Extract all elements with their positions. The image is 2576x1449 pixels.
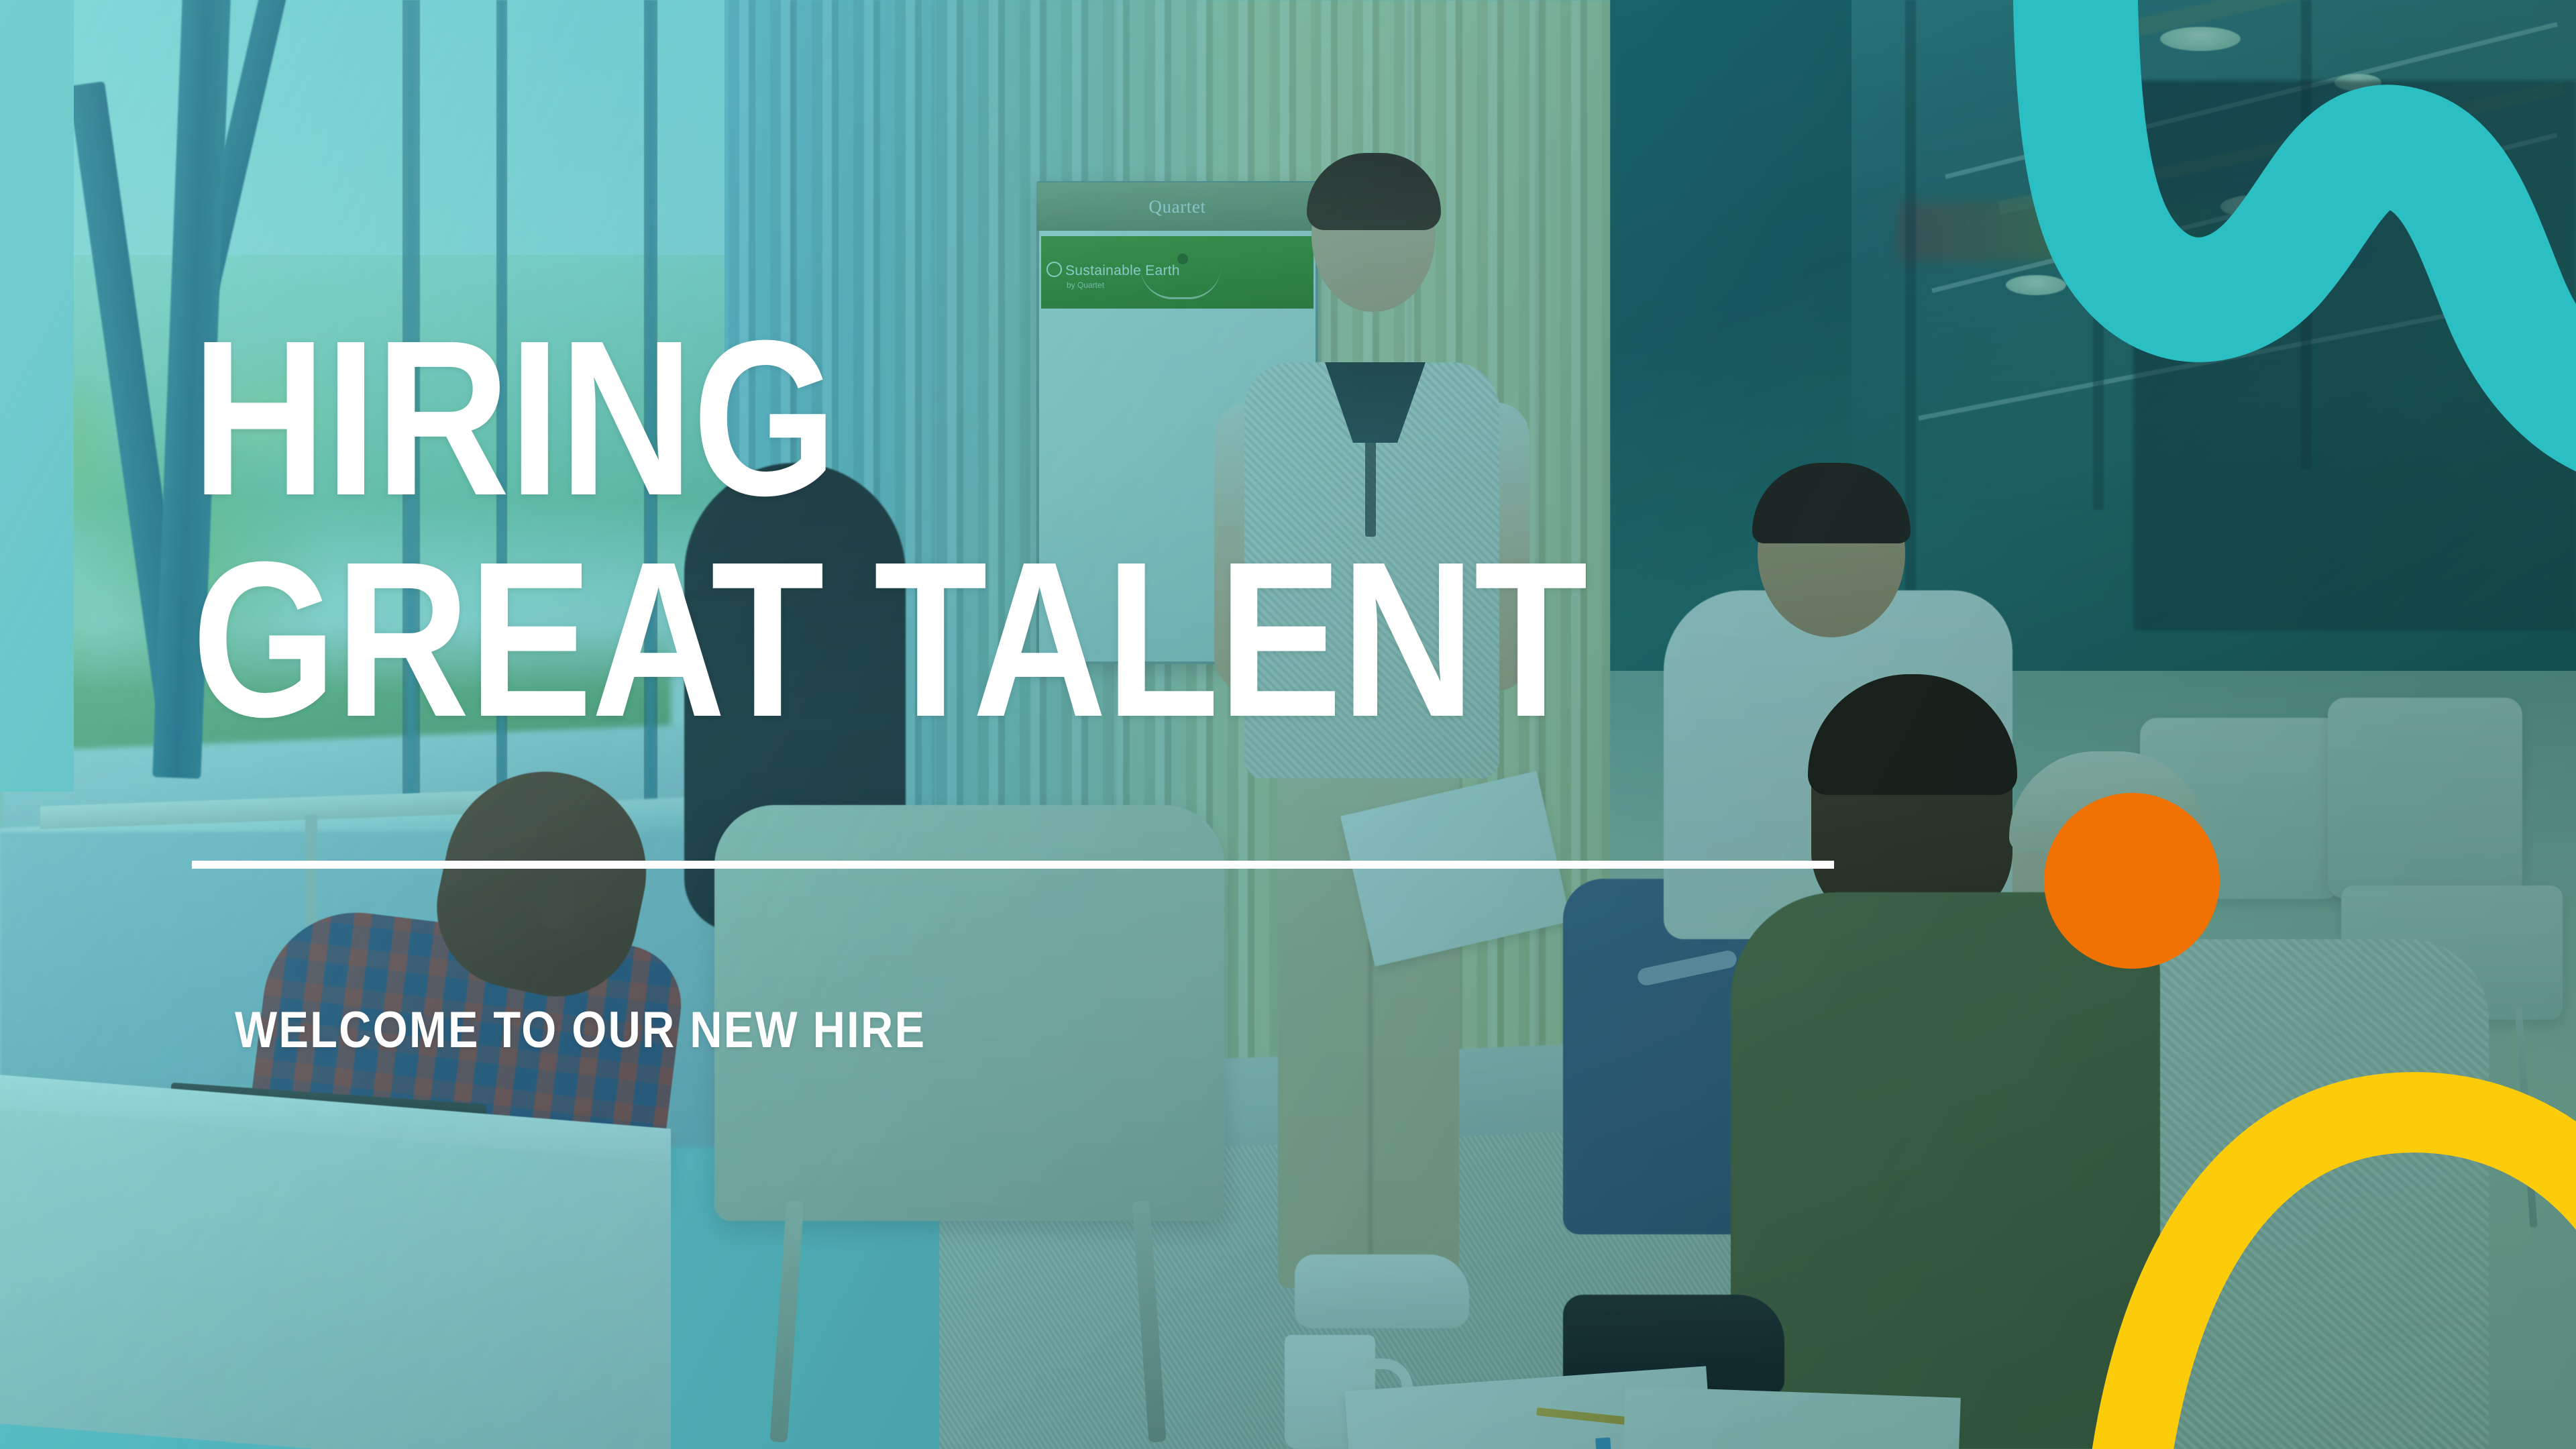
photo-whiteboard-header: Quartet [1036,182,1318,231]
photo-ceiling-lamp [2160,27,2241,51]
divider-rule [192,861,1834,869]
hiring-banner: Quartet Sustainable Earth by Quartet [0,0,2576,1449]
photo-ceiling-lamp [2006,275,2066,295]
page-title-line-1: HIRING [192,315,836,521]
whiteboard-green-sublabel: by Quartet [1067,280,1104,290]
globe-icon [1046,262,1062,277]
photo-document [1621,1386,1961,1449]
photo-presenter-shoe [1295,1254,1469,1328]
photo-table-body [0,1105,671,1449]
photo-shadow-block [2133,80,2576,631]
page-subtitle: WELCOME TO OUR NEW HIRE [235,1001,926,1059]
photo-flat-left-tint [0,0,74,792]
page-title-line-2: GREAT TALENT [192,537,1587,743]
whiteboard-green-label: Sustainable Earth [1065,263,1180,279]
photo-chair [2328,698,2522,899]
orange-circle-icon [2044,793,2220,969]
whiteboard-brand-label: Quartet [1148,197,1205,217]
photo-person-olive-shirt [1731,892,2160,1449]
photo-column [2093,0,2104,510]
